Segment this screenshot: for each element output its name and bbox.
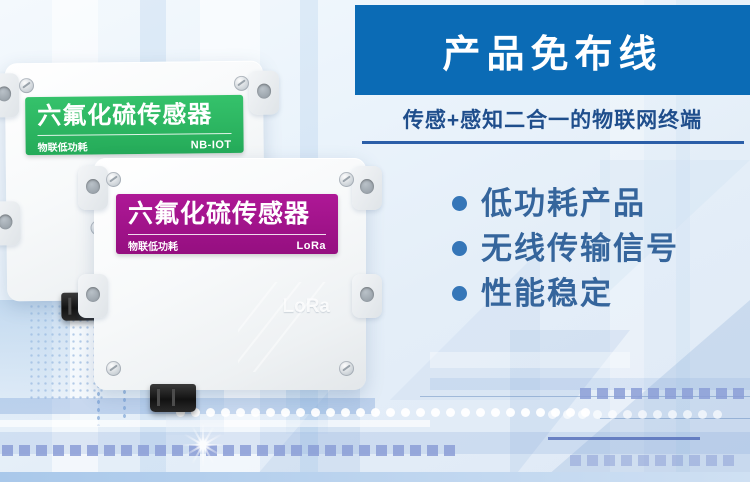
bg-starburst [158, 400, 248, 482]
list-item: 低功耗产品 [452, 188, 750, 219]
list-item: 无线传输信号 [452, 233, 750, 264]
subtitle-underline [362, 141, 744, 144]
subtitle: 传感+感知二合一的物联网终端 [355, 104, 750, 134]
label-sub-left: 物联低功耗 [38, 138, 88, 154]
mounting-tab [249, 70, 279, 114]
bullet-dot-icon [452, 286, 467, 301]
label-subline: 物联低功耗 LoRa [128, 238, 326, 253]
feature-text: 低功耗产品 [481, 188, 646, 219]
corner-screw [19, 78, 34, 93]
bullet-dot-icon [452, 196, 467, 211]
product-banner: 六氟化硫传感器 物联低功耗 NB-IOT 六氟化硫传感器 [0, 0, 750, 482]
mounting-tab [78, 166, 108, 210]
label-title: 六氟化硫传感器 [128, 202, 310, 227]
corner-screw [106, 361, 121, 376]
bg-dash-row [570, 455, 734, 466]
cable-gland [150, 384, 196, 412]
bg-bottom-bar [0, 472, 750, 482]
feature-text: 无线传输信号 [481, 233, 679, 264]
bg-dot-row [548, 410, 722, 419]
product-label-lora: 六氟化硫传感器 物联低功耗 LoRa [116, 194, 338, 254]
label-divider [128, 234, 326, 235]
mounting-tab [0, 73, 19, 117]
list-item: 性能稳定 [452, 278, 750, 309]
corner-screw [339, 172, 354, 187]
headline-banner: 产品免布线 [355, 5, 750, 95]
corner-screw [106, 172, 121, 187]
feature-list: 低功耗产品 无线传输信号 性能稳定 [452, 188, 750, 323]
feature-text: 性能稳定 [481, 278, 613, 309]
mounting-tab [352, 166, 382, 210]
label-sub-left: 物联低功耗 [128, 238, 178, 253]
label-sub-right: LoRa [297, 240, 327, 252]
label-subline: 物联低功耗 NB-IOT [38, 137, 232, 154]
device-sheen [238, 282, 358, 372]
label-title: 六氟化硫传感器 [37, 103, 212, 129]
device-lora: 六氟化硫传感器 物联低功耗 LoRa LoRa [94, 158, 366, 390]
bg-line [548, 437, 700, 440]
corner-screw [234, 76, 249, 91]
headline-text: 产品免布线 [442, 23, 662, 78]
bullet-dot-icon [452, 241, 467, 256]
mounting-tab [0, 201, 21, 245]
label-divider [38, 133, 232, 136]
bg-dash-row [580, 388, 744, 399]
bg-band [430, 352, 630, 368]
product-label-nb-iot: 六氟化硫传感器 物联低功耗 NB-IOT [25, 95, 244, 155]
label-sub-right: NB-IOT [191, 138, 232, 150]
bg-soft-block [0, 300, 70, 420]
subtitle-text: 传感+感知二合一的物联网终端 [403, 109, 702, 132]
mounting-tab [78, 274, 108, 318]
